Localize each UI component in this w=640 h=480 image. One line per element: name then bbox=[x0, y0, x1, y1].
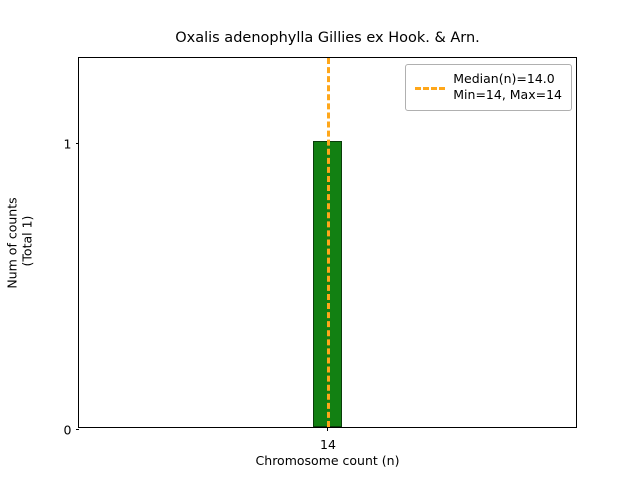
y-axis-label-wrap: Num of counts (Total 1) bbox=[0, 57, 40, 428]
legend-label-median: Median(n)=14.0 bbox=[453, 71, 562, 87]
dashed-line-icon bbox=[415, 81, 445, 93]
x-tick-14: 14 bbox=[327, 427, 328, 431]
plot-area: 0 1 14 Median(n)=14.0 Min=14, Max=14 bbox=[78, 57, 577, 428]
y-axis-label: Num of counts (Total 1) bbox=[5, 197, 35, 288]
y-tick-0: 0 bbox=[76, 429, 80, 430]
chart-title: Oxalis adenophylla Gillies ex Hook. & Ar… bbox=[78, 30, 577, 46]
bars-layer bbox=[79, 58, 576, 427]
x-axis-label: Chromosome count (n) bbox=[78, 453, 577, 468]
legend-entry-labels: Median(n)=14.0 Min=14, Max=14 bbox=[453, 71, 562, 103]
median-line bbox=[327, 58, 330, 427]
y-tick-label-0: 0 bbox=[64, 423, 72, 438]
chart-figure: Oxalis adenophylla Gillies ex Hook. & Ar… bbox=[0, 0, 640, 480]
legend: Median(n)=14.0 Min=14, Max=14 bbox=[405, 64, 572, 111]
x-tick-label-14: 14 bbox=[320, 437, 336, 452]
y-tick-label-1: 1 bbox=[64, 136, 72, 151]
legend-label-minmax: Min=14, Max=14 bbox=[453, 87, 562, 103]
legend-entry-median: Median(n)=14.0 Min=14, Max=14 bbox=[415, 71, 562, 103]
